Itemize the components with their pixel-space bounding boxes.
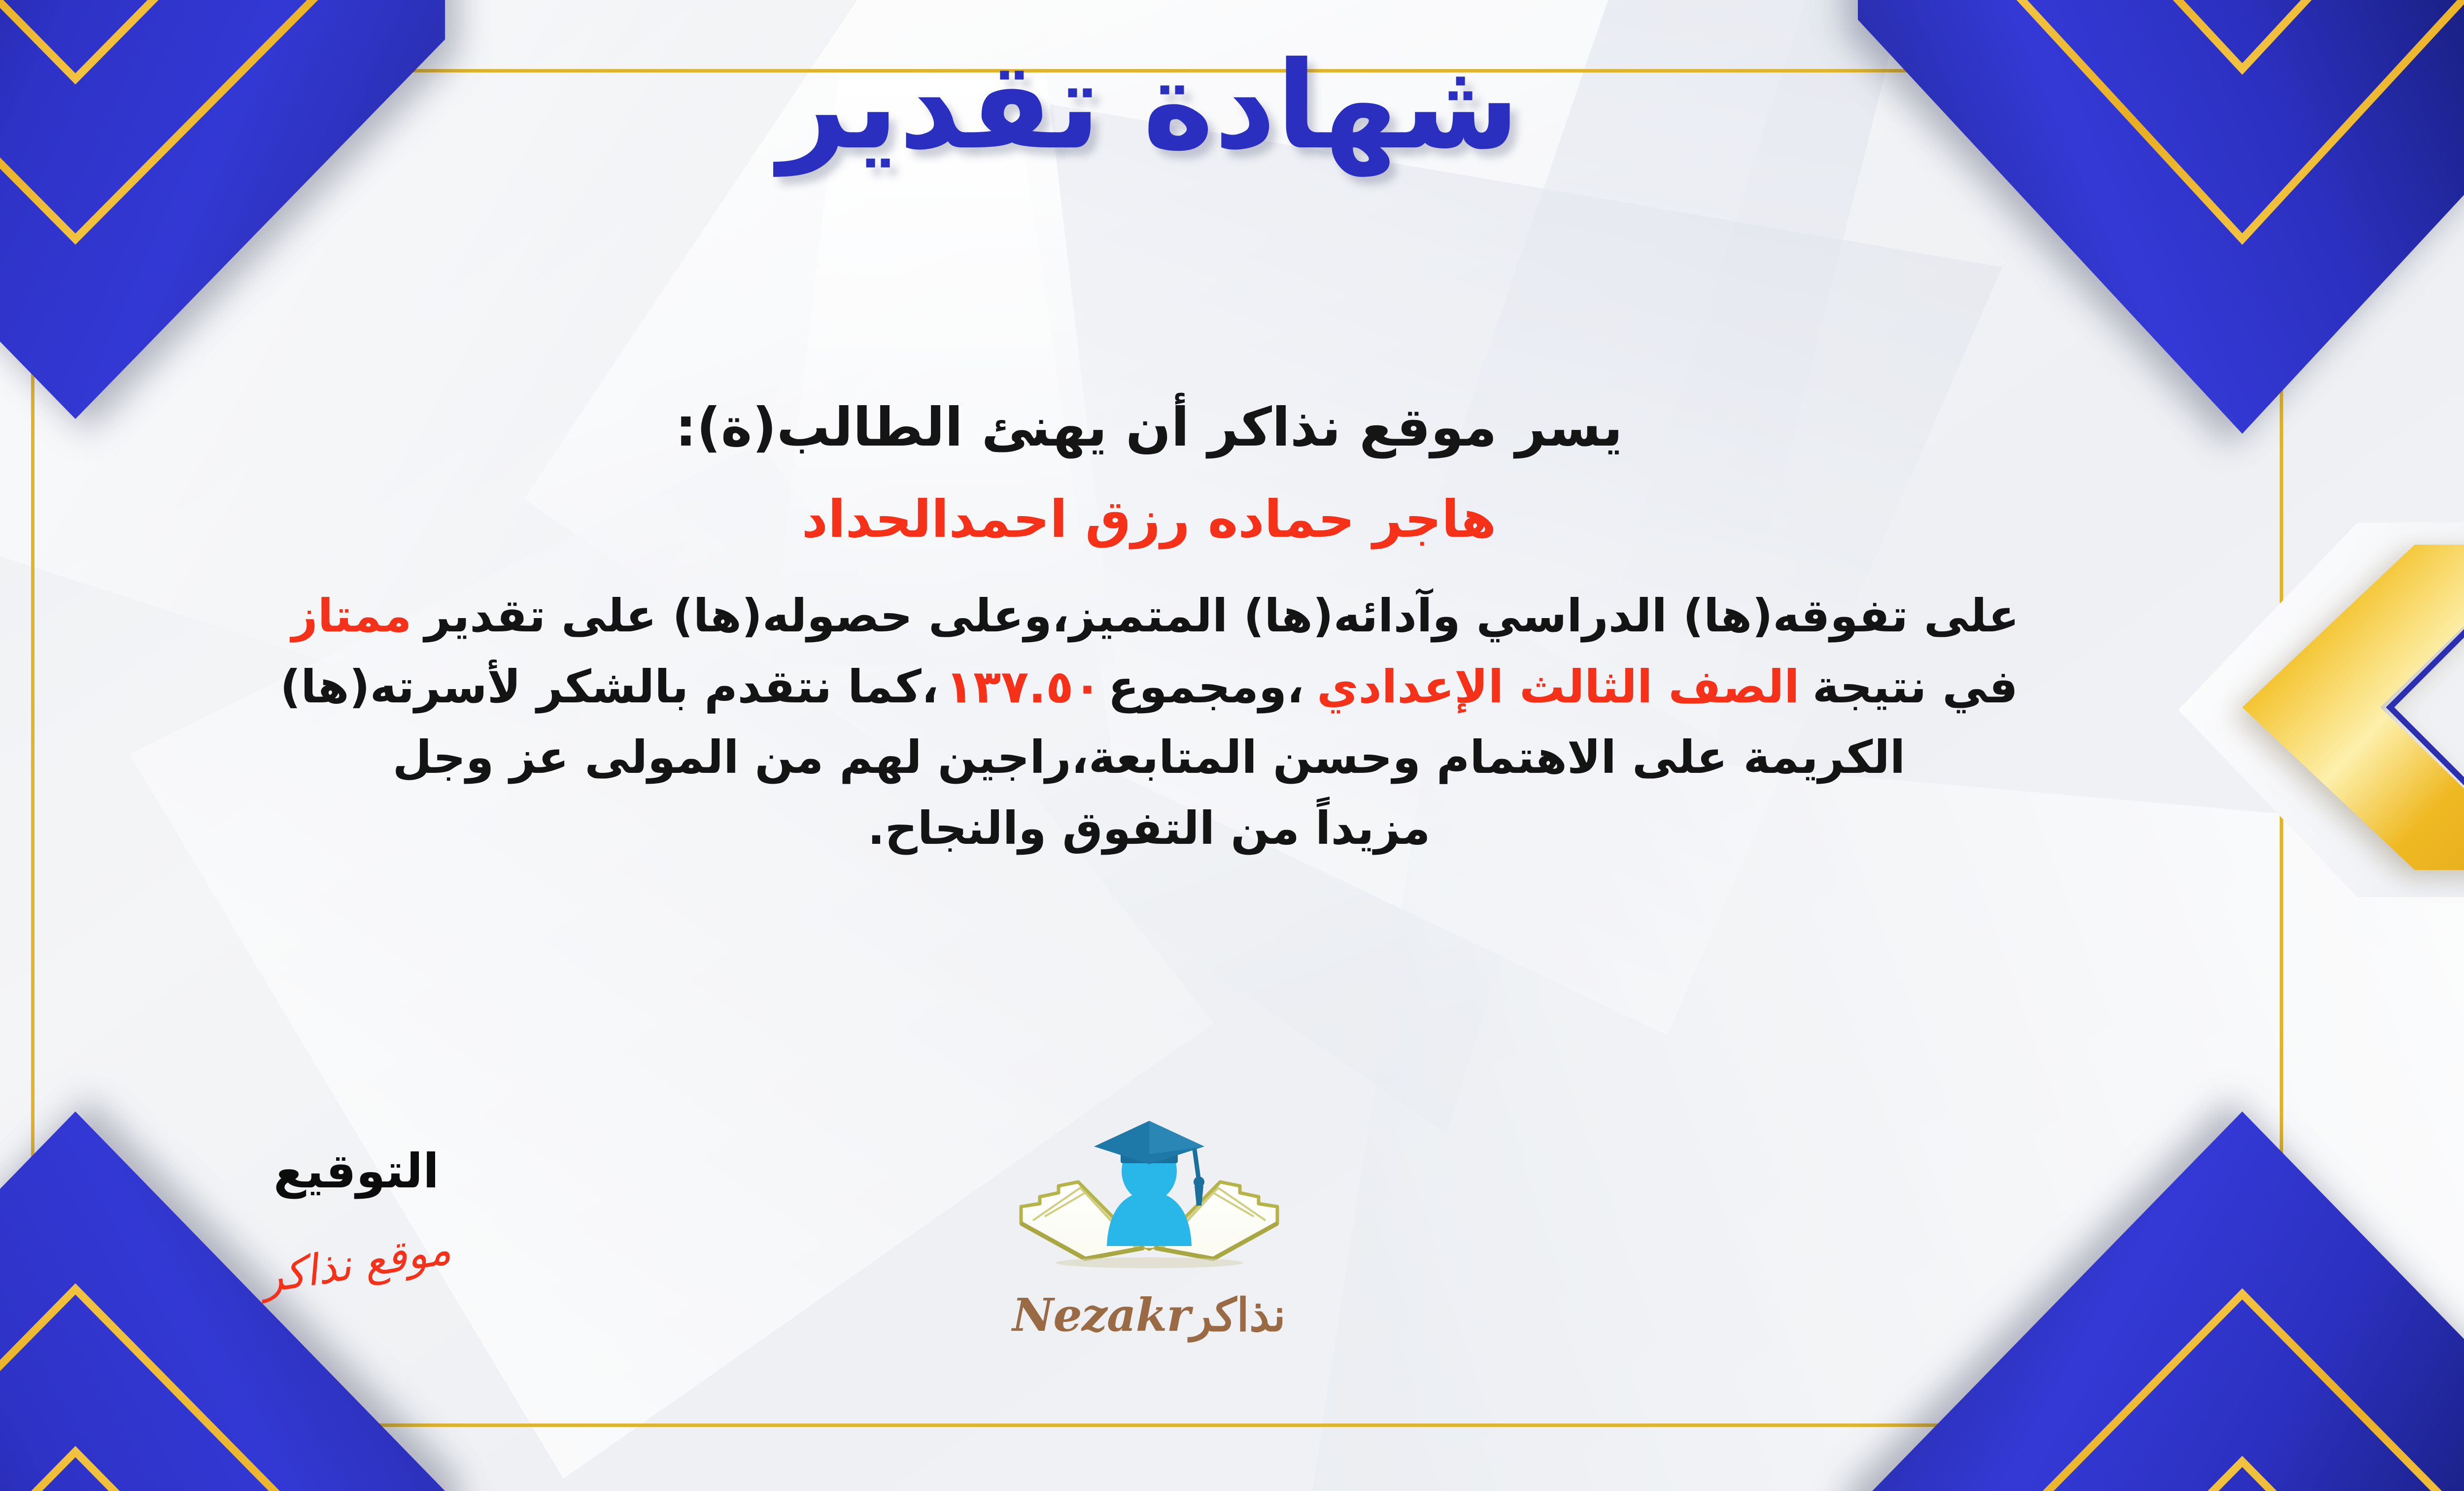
grade-value: ممتاز xyxy=(279,589,425,642)
achievement-paragraph: على تفوقه(ها) الدراسي وآدائه(ها) المتميز… xyxy=(46,581,2252,864)
graduate-book-icon xyxy=(1011,1119,1287,1282)
student-name: هاجر حماده رزق احمدالحداد xyxy=(46,484,2252,555)
achievement-text-4: ،كما نتقدم بالشكر لأسرته(ها) xyxy=(280,660,939,713)
brand-wordmark: نذاكرNezakr xyxy=(962,1288,1336,1342)
achievement-text-1: على تفوقه(ها) الدراسي وآدائه(ها) المتميز… xyxy=(424,589,2019,642)
achievement-text-5: الكريمة على الاهتمام وحسن المتابعة،راجين… xyxy=(393,731,1906,784)
signature-script: موقع نذاكر xyxy=(259,1224,454,1303)
achievement-text-2: في نتيجة xyxy=(1813,660,2018,713)
certificate-title: شهادة تقدير xyxy=(0,39,2464,173)
total-score-value: ١٣٧.٥٠ xyxy=(939,660,1108,713)
achievement-text-6: مزيداً من التفوق والنجاح. xyxy=(868,802,1431,855)
brand-latin: Nezakr xyxy=(1012,1288,1190,1342)
signature-block: التوقيع موقع نذاكر xyxy=(174,1144,539,1288)
intro-line: يسر موقع نذاكر أن يهنئ الطالب(ة): xyxy=(46,389,2252,467)
stage-value: الصف الثالث الإعدادي xyxy=(1304,660,1813,713)
brand-arabic: نذاكر xyxy=(1190,1288,1286,1342)
achievement-text-3: ،ومجموع xyxy=(1108,660,1304,713)
brand-logo-block: نذاكرNezakr xyxy=(962,1119,1336,1342)
certificate-body: يسر موقع نذاكر أن يهنئ الطالب(ة): هاجر ح… xyxy=(46,389,2252,864)
certificate-page: شهادة تقدير يسر موقع نذاكر أن يهنئ الطال… xyxy=(0,0,2464,1491)
signature-label: التوقيع xyxy=(174,1144,539,1199)
certificate-content: شهادة تقدير يسر موقع نذاكر أن يهنئ الطال… xyxy=(0,0,2464,1491)
